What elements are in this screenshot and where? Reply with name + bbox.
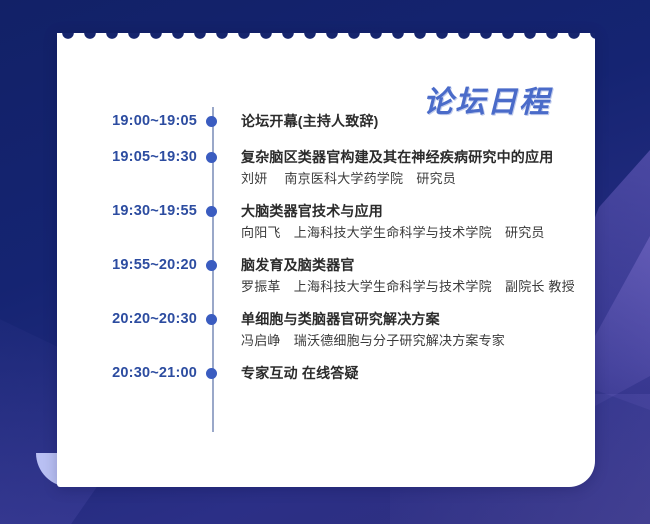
- agenda-row-speaker: 向阳飞 上海科技大学生命科学与技术学院 研究员: [241, 222, 595, 243]
- agenda-row-title: 单细胞与类脑器官研究解决方案: [241, 309, 595, 329]
- agenda-row-body: 论坛开幕(主持人致辞): [229, 111, 595, 131]
- timeline-dot-cell: [197, 201, 229, 221]
- timeline-dot-icon: [206, 368, 217, 379]
- torn-paper-notch-edge: [57, 33, 595, 44]
- agenda-row-body: 专家互动 在线答疑: [229, 363, 595, 383]
- agenda-row-time: 19:30~19:55: [57, 201, 197, 221]
- agenda-row-time: 19:55~20:20: [57, 255, 197, 275]
- timeline-dot-icon: [206, 152, 217, 163]
- agenda-row-speaker: 冯启峥 瑞沃德细胞与分子研究解决方案专家: [241, 330, 595, 351]
- agenda-row-body: 单细胞与类脑器官研究解决方案 冯启峥 瑞沃德细胞与分子研究解决方案专家: [229, 309, 595, 351]
- poster-stage: 论坛日程 19:00~19:05 论坛开幕(主持人致辞) 19:05~19:30…: [0, 0, 650, 524]
- timeline-dot-cell: [197, 147, 229, 167]
- agenda-row[interactable]: 20:30~21:00 专家互动 在线答疑: [57, 363, 595, 387]
- timeline-dot-cell: [197, 309, 229, 329]
- agenda-row-title: 专家互动 在线答疑: [241, 363, 595, 383]
- agenda-row[interactable]: 19:05~19:30 复杂脑区类器官构建及其在神经疾病研究中的应用 刘妍 南京…: [57, 147, 595, 189]
- agenda-row-time: 20:30~21:00: [57, 363, 197, 383]
- timeline-dot-icon: [206, 206, 217, 217]
- timeline-dot-cell: [197, 363, 229, 383]
- agenda-row-time: 20:20~20:30: [57, 309, 197, 329]
- agenda-row-title: 脑发育及脑类器官: [241, 255, 595, 275]
- agenda-row-speaker: 罗振革 上海科技大学生命科学与技术学院 副院长 教授: [241, 276, 595, 297]
- agenda-row[interactable]: 19:30~19:55 大脑类器官技术与应用 向阳飞 上海科技大学生命科学与技术…: [57, 201, 595, 243]
- agenda-row-title: 大脑类器官技术与应用: [241, 201, 595, 221]
- agenda-row[interactable]: 20:20~20:30 单细胞与类脑器官研究解决方案 冯启峥 瑞沃德细胞与分子研…: [57, 309, 595, 351]
- agenda-row-time: 19:05~19:30: [57, 147, 197, 167]
- timeline-dot-cell: [197, 255, 229, 275]
- agenda-row-speaker: 刘妍 南京医科大学药学院 研究员: [241, 168, 595, 189]
- agenda-card: 论坛日程 19:00~19:05 论坛开幕(主持人致辞) 19:05~19:30…: [57, 33, 595, 487]
- agenda-timeline: 19:00~19:05 论坛开幕(主持人致辞) 19:05~19:30 复杂脑区…: [57, 111, 595, 387]
- agenda-row[interactable]: 19:55~20:20 脑发育及脑类器官 罗振革 上海科技大学生命科学与技术学院…: [57, 255, 595, 297]
- timeline-dot-icon: [206, 260, 217, 271]
- agenda-row-time: 19:00~19:05: [57, 111, 197, 131]
- agenda-row[interactable]: 19:00~19:05 论坛开幕(主持人致辞): [57, 111, 595, 135]
- agenda-row-body: 脑发育及脑类器官 罗振革 上海科技大学生命科学与技术学院 副院长 教授: [229, 255, 595, 297]
- agenda-row-title: 论坛开幕(主持人致辞): [241, 111, 595, 131]
- timeline-dot-cell: [197, 111, 229, 131]
- agenda-row-title: 复杂脑区类器官构建及其在神经疾病研究中的应用: [241, 147, 595, 167]
- agenda-row-body: 复杂脑区类器官构建及其在神经疾病研究中的应用 刘妍 南京医科大学药学院 研究员: [229, 147, 595, 189]
- agenda-row-body: 大脑类器官技术与应用 向阳飞 上海科技大学生命科学与技术学院 研究员: [229, 201, 595, 243]
- timeline-dot-icon: [206, 116, 217, 127]
- timeline-dot-icon: [206, 314, 217, 325]
